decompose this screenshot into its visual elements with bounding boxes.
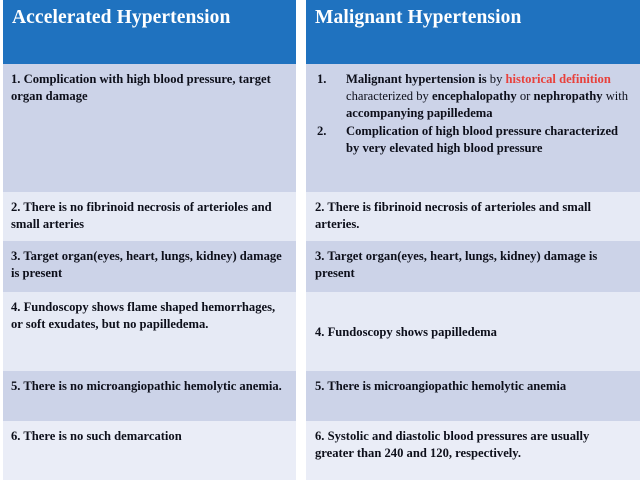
list-item-marker: 1. [317, 71, 326, 88]
table-body: 1. Complication with high blood pressure… [3, 64, 640, 480]
table-row: 3. Target organ(eyes, heart, lungs, kidn… [3, 241, 640, 292]
list-item-seg: nephropathy [533, 89, 605, 103]
cell-malignant-1: 1.Malignant hypertension is by historica… [306, 64, 640, 192]
malignant-numbered-list: 1.Malignant hypertension is by historica… [315, 71, 630, 157]
list-item-seg: Malignant hypertension is [346, 72, 490, 86]
table-row: 2. There is no fibrinoid necrosis of art… [3, 192, 640, 241]
table-row: 1. Complication with high blood pressure… [3, 64, 640, 192]
list-item-seg-highlight: historical definition [506, 72, 611, 86]
cell-accelerated-4: 4. Fundoscopy shows flame shaped hemorrh… [3, 292, 296, 371]
list-item-seg: characterized by [346, 89, 432, 103]
cell-accelerated-2: 2. There is no fibrinoid necrosis of art… [3, 192, 296, 241]
column-header-malignant: Malignant Hypertension [306, 0, 640, 64]
cell-malignant-4-text: 4. Fundoscopy shows papilledema [315, 324, 630, 341]
list-item-seg: by [490, 72, 506, 86]
column-divider [296, 292, 306, 371]
list-item-seg: or [520, 89, 534, 103]
list-item: 2.Complication of high blood pressure ch… [315, 123, 630, 157]
cell-malignant-5: 5. There is microangiopathic hemolytic a… [306, 371, 640, 421]
cell-malignant-6-text: 6. Systolic and diastolic blood pressure… [315, 429, 589, 460]
hypertension-comparison-table: Accelerated Hypertension Malignant Hyper… [0, 0, 640, 480]
list-item-marker: 2. [317, 123, 326, 140]
column-header-accelerated: Accelerated Hypertension [3, 0, 296, 64]
cell-malignant-4: 4. Fundoscopy shows papilledema [306, 292, 640, 371]
cell-accelerated-1: 1. Complication with high blood pressure… [3, 64, 296, 192]
cell-accelerated-6: 6. There is no such demarcation [3, 421, 296, 480]
cell-malignant-3: 3. Target organ(eyes, heart, lungs, kidn… [306, 241, 640, 292]
list-item-seg: accompanying papilledema [346, 106, 493, 120]
cell-malignant-6: 6. Systolic and diastolic blood pressure… [306, 421, 640, 480]
cell-accelerated-1-text: 1. Complication with high blood pressure… [11, 72, 271, 103]
table-row: 4. Fundoscopy shows flame shaped hemorrh… [3, 292, 640, 371]
table-row: 5. There is no microangiopathic hemolyti… [3, 371, 640, 421]
cell-malignant-5-text: 5. There is microangiopathic hemolytic a… [315, 379, 566, 393]
column-header-accelerated-title: Accelerated Hypertension [12, 6, 296, 30]
cell-accelerated-2-text: 2. There is no fibrinoid necrosis of art… [11, 200, 272, 231]
list-item: 1.Malignant hypertension is by historica… [315, 71, 630, 122]
cell-accelerated-5: 5. There is no microangiopathic hemolyti… [3, 371, 296, 421]
column-header-malignant-title: Malignant Hypertension [315, 6, 640, 30]
cell-malignant-3-text: 3. Target organ(eyes, heart, lungs, kidn… [315, 249, 597, 280]
column-divider [296, 371, 306, 421]
list-item-seg: with [606, 89, 628, 103]
cell-accelerated-5-text: 5. There is no microangiopathic hemolyti… [11, 379, 282, 393]
cell-accelerated-4-text: 4. Fundoscopy shows flame shaped hemorrh… [11, 300, 275, 331]
cell-accelerated-3-text: 3. Target organ(eyes, heart, lungs, kidn… [11, 249, 282, 280]
cell-malignant-2-text: 2. There is fibrinoid necrosis of arteri… [315, 200, 591, 231]
column-divider [296, 192, 306, 241]
header-column-divider [296, 0, 306, 64]
cell-malignant-2: 2. There is fibrinoid necrosis of arteri… [306, 192, 640, 241]
table-row: 6. There is no such demarcation 6. Systo… [3, 421, 640, 480]
cell-accelerated-3: 3. Target organ(eyes, heart, lungs, kidn… [3, 241, 296, 292]
list-item-seg: Complication of high blood pressure char… [346, 124, 618, 155]
column-divider [296, 421, 306, 480]
column-divider [296, 64, 306, 192]
table-header-row: Accelerated Hypertension Malignant Hyper… [3, 0, 640, 64]
column-divider [296, 241, 306, 292]
list-item-seg: encephalopathy [432, 89, 520, 103]
cell-accelerated-6-text: 6. There is no such demarcation [11, 429, 182, 443]
